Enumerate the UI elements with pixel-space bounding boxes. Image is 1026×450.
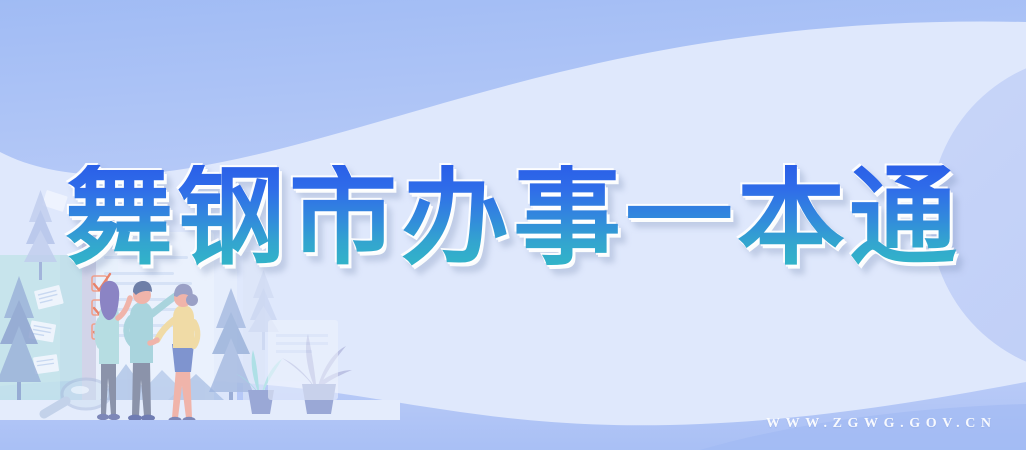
gov-service-banner: 舞钢市办事一本通 WWW.ZGWG.GOV.CN [0,0,1026,450]
office-scene-illustration [0,0,1026,450]
document-card [268,320,338,400]
site-url-watermark: WWW.ZGWG.GOV.CN [766,416,997,432]
